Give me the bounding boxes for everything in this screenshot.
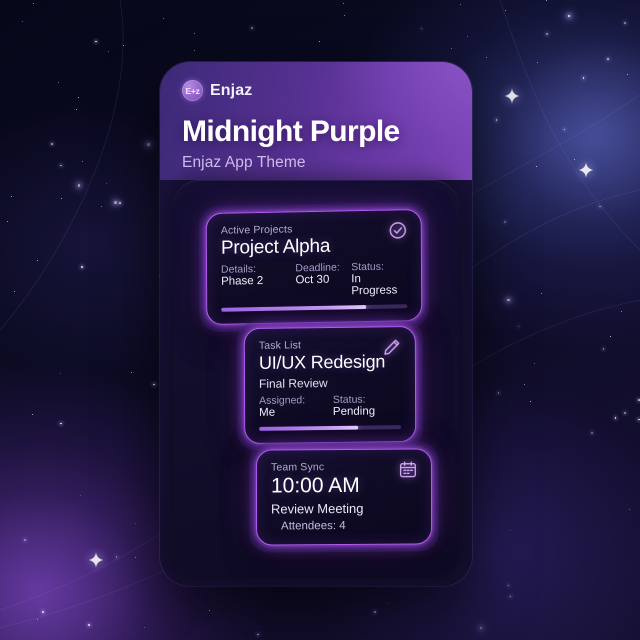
star (451, 48, 452, 49)
star (76, 109, 77, 110)
sparkle-star (577, 161, 595, 179)
meta-label: Deadline: (295, 261, 351, 274)
star (537, 62, 538, 63)
pencil-icon[interactable] (382, 337, 402, 357)
star (251, 27, 253, 29)
star (486, 57, 487, 58)
check-circle-icon[interactable] (388, 220, 408, 240)
star (343, 3, 344, 4)
star (524, 384, 525, 385)
app-header: E+z Enjaz Midnight Purple Enjaz App Them… (160, 62, 472, 180)
star (607, 58, 609, 60)
star (518, 326, 520, 328)
card-active-projects[interactable]: Active Projects Project Alpha Details: P… (199, 202, 430, 332)
star (498, 392, 500, 394)
meta-deadline: Deadline: Oct 30 (295, 261, 351, 298)
meta-details: Details: Phase 2 (221, 262, 296, 299)
brand-badge-icon: E+z (182, 80, 203, 101)
star (37, 619, 38, 620)
meta-value: Phase 2 (221, 274, 295, 287)
card-body: Task List UI/UX Redesign Final Review As… (244, 326, 416, 444)
star (319, 41, 320, 42)
star (51, 143, 53, 145)
card-body: Active Projects Project Alpha Details: P… (206, 209, 423, 325)
card-subtitle: Final Review (259, 375, 401, 391)
star (507, 299, 510, 302)
card-subtitle: Review Meeting (271, 500, 417, 516)
star (564, 129, 566, 131)
sparkle-star (503, 87, 521, 105)
star (574, 159, 575, 160)
star (546, 0, 547, 1)
card-meta-row: Details: Phase 2 Deadline: Oct 30 Status… (221, 260, 407, 300)
star (131, 372, 132, 373)
star (603, 348, 605, 350)
star (7, 221, 8, 222)
card-title: UI/UX Redesign (259, 351, 401, 374)
star (22, 21, 23, 22)
star (119, 202, 121, 204)
meta-value: Pending (333, 405, 401, 418)
star (78, 97, 79, 98)
page-subtitle: Enjaz App Theme (182, 154, 450, 172)
star (95, 41, 97, 43)
star (32, 414, 33, 415)
star (615, 417, 617, 419)
star (144, 627, 145, 628)
card-meta-row: Assigned: Me Status: Pending (259, 393, 401, 419)
star (58, 82, 59, 83)
star (123, 45, 124, 46)
star (627, 74, 628, 75)
star (510, 596, 512, 598)
progress-fill (259, 426, 358, 431)
card-title: Project Alpha (221, 234, 407, 260)
star (61, 198, 62, 199)
sparkle-star (87, 551, 105, 569)
star (599, 206, 601, 208)
star (24, 539, 26, 541)
progress-track[interactable] (259, 425, 401, 431)
star (60, 373, 61, 374)
star (101, 206, 102, 207)
meta-status: Status: In Progress (351, 260, 407, 297)
star (82, 161, 83, 162)
star (33, 3, 34, 4)
star (568, 15, 571, 18)
star (536, 166, 537, 167)
star (163, 18, 164, 19)
star (42, 611, 44, 613)
card-eyebrow: Team Sync (271, 460, 417, 473)
star (374, 611, 376, 613)
star (135, 557, 136, 558)
star (421, 28, 423, 30)
star (81, 266, 83, 268)
star (583, 77, 585, 79)
meta-value: Me (259, 406, 333, 419)
star (460, 4, 461, 5)
content-panel: Active Projects Project Alpha Details: P… (173, 180, 459, 578)
star (534, 363, 535, 364)
star (629, 509, 630, 510)
star (344, 15, 345, 16)
star (147, 143, 150, 146)
meta-label: Status: (351, 260, 407, 273)
meta-label: Assigned: (259, 394, 333, 407)
star (78, 184, 81, 187)
page-title: Midnight Purple (182, 115, 450, 149)
brand-lockup: E+z Enjaz (182, 80, 450, 101)
card-team-sync[interactable]: Team Sync 10:00 AM Review Meeting Attend… (249, 441, 439, 552)
card-body: Team Sync 10:00 AM Review Meeting Attend… (256, 448, 432, 545)
star (153, 384, 155, 386)
star (194, 50, 195, 51)
star (14, 291, 15, 292)
star (504, 221, 506, 223)
star (88, 624, 90, 626)
attendees-count: Attendees: 4 (271, 519, 417, 532)
brand-name: Enjaz (210, 82, 252, 100)
star (209, 610, 210, 611)
star (530, 401, 531, 402)
meta-label: Status: (333, 393, 401, 406)
star (387, 603, 388, 604)
star (135, 523, 136, 524)
meta-status: Status: Pending (333, 393, 401, 418)
screenshot-stage: E+z Enjaz Midnight Purple Enjaz App Them… (0, 0, 640, 640)
star (638, 399, 640, 401)
star (496, 119, 498, 121)
star (108, 51, 109, 52)
progress-track[interactable] (221, 304, 407, 312)
card-task-list[interactable]: Task List UI/UX Redesign Final Review As… (237, 319, 423, 451)
star (480, 627, 483, 630)
star (60, 165, 62, 167)
card-title: 10:00 AM (271, 473, 417, 498)
card-eyebrow: Task List (259, 338, 401, 352)
star (591, 432, 593, 434)
star (610, 336, 611, 337)
star (80, 495, 81, 496)
progress-fill (221, 305, 366, 312)
meta-value: Oct 30 (295, 273, 351, 286)
meta-value: In Progress (351, 272, 407, 297)
star (37, 260, 38, 261)
meta-assigned: Assigned: Me (259, 394, 333, 419)
star (106, 183, 107, 184)
star (541, 293, 542, 294)
star (510, 530, 511, 531)
star (114, 201, 117, 204)
star (257, 634, 259, 636)
star (467, 36, 468, 37)
star (194, 33, 195, 34)
star (11, 196, 12, 197)
star (624, 22, 626, 24)
star (116, 556, 118, 558)
star (621, 311, 622, 312)
star (546, 33, 548, 35)
star (624, 412, 626, 414)
star (508, 585, 510, 587)
calendar-icon[interactable] (398, 459, 418, 479)
phone-mockup: E+z Enjaz Midnight Purple Enjaz App Them… (160, 62, 472, 586)
star (60, 423, 62, 425)
star (505, 10, 506, 11)
